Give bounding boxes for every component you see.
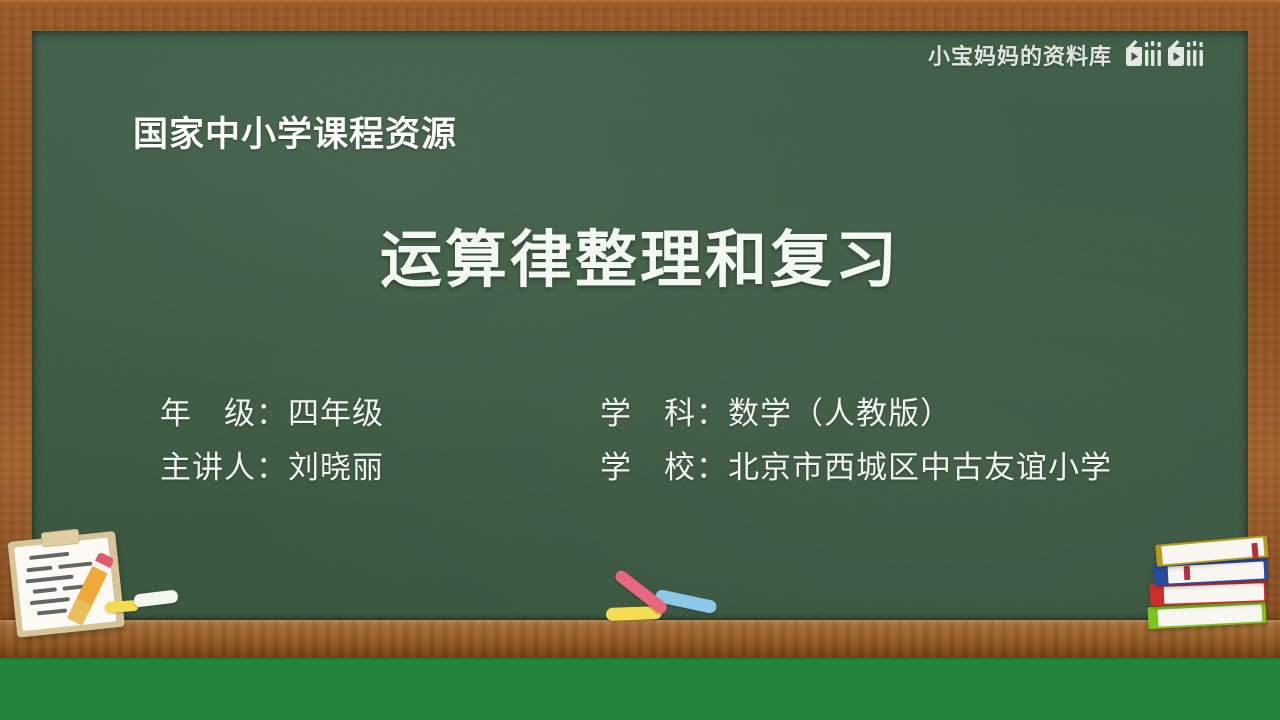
lesson-info-row: 年 级：四年级 学 科：数学（人教版） (160, 395, 1240, 432)
bilibili-logo-icon (1124, 38, 1236, 72)
clipboard-icon (3, 524, 135, 640)
subject-label: 学 科： (600, 396, 728, 431)
lesson-info-row: 主讲人：刘晓丽 学 校：北京市西城区中古友谊小学 (160, 449, 1240, 486)
lesson-info-block: 年 级：四年级 学 科：数学（人教版） 主讲人：刘晓丽 学 校：北京市西城区中古… (160, 395, 1240, 503)
school-label: 学 校： (600, 450, 728, 485)
video-slide-screen: 小宝妈妈的资料库 (0, 0, 1280, 720)
book-bookmark (1251, 543, 1258, 558)
bottom-green-band (0, 657, 1280, 720)
page-brand-heading: 国家中小学课程资源 (133, 106, 457, 157)
chalk-tray (0, 620, 1280, 658)
frame-top-highlight (0, 0, 1280, 4)
watermark-uploader-text: 小宝妈妈的资料库 (928, 39, 1112, 71)
grade-label: 年 级： (160, 396, 288, 431)
presenter-label: 主讲人： (160, 450, 288, 485)
book-red-pages (1164, 583, 1265, 603)
subject-field: 学 科：数学（人教版） (600, 395, 1220, 432)
grade-field: 年 级：四年级 (160, 395, 600, 432)
presenter-value: 刘晓丽 (288, 450, 384, 485)
grade-value: 四年级 (288, 396, 384, 431)
chalk-tray-grain (0, 620, 1280, 658)
school-value: 北京市西城区中古友谊小学 (728, 450, 1112, 485)
book-bookmark (1184, 566, 1191, 580)
lesson-title: 运算律整理和复习 (0, 209, 1280, 299)
watermark: 小宝妈妈的资料库 (928, 38, 1236, 72)
school-field: 学 校：北京市西城区中古友谊小学 (600, 449, 1220, 486)
book-stack-icon (1148, 528, 1274, 632)
subject-value: 数学（人教版） (728, 396, 952, 431)
presenter-field: 主讲人：刘晓丽 (160, 449, 600, 486)
